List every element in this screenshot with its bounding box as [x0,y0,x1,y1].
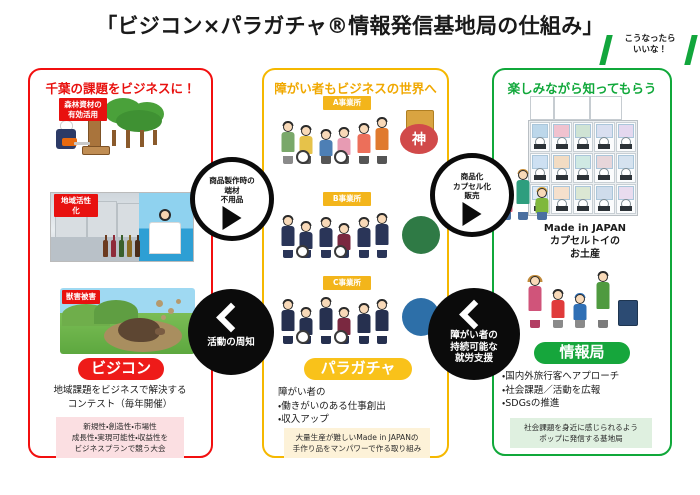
office-a-group-illustration [278,110,398,164]
flow-activity-publicity-arrow-icon [216,303,246,333]
information-station-note: 社会課題を身近に感じられるよう ポップに発信する基地局 [510,418,652,448]
wish-line-2: いいな！ [612,45,688,56]
bizcon-note: 新規性・創造性・市場性 成長性・実現可能性・収益性を ビジネスプランで競う大会 [56,417,184,458]
information-station-description: ・国内外旅行客へアプローチ ・社会課題／活動を広報 ・SDGsの推進 [502,370,672,411]
made-in-japan-caption: Made in JAPAN カプセルトイの お土産 [520,222,650,261]
revitalize-tag: 地域活性化 [54,194,98,217]
forest-tag: 森林資材の 有効活用 [59,98,107,121]
panel-chiba-business: 千葉の課題をビジネスに！ 森林資材の 有効活用 [28,68,213,458]
wish-text: こうなったら いいな！ [612,34,688,56]
office-a-tag: A事業所 [323,96,371,110]
flow-materials-arrow-icon [223,206,242,230]
gacha-top-poster-1 [530,96,554,120]
panel-right-heading: 楽しみながら知ってもらう [494,78,670,97]
flow-materials-text: 商品製作時の 端材 不用品 [195,176,269,205]
office-c-tag: C事業所 [323,276,371,290]
flow-employment-support-text: 障がい者の 持続可能な 就労支援 [428,330,520,365]
paragacha-description: 障がい者の ・働きがいのある仕事創出 ・収入アップ [278,386,448,427]
flow-commercialize-arrow-icon [463,202,482,226]
gacha-top-poster-2 [554,96,590,120]
kami-product-circle: 神 [400,124,438,154]
office-b-group-illustration [278,206,398,258]
panel-mid-heading: 障がい者もビジネスの世界へ [264,78,447,97]
office-b-tag: B事業所 [323,192,371,206]
flow-commercialize: 商品化 カプセル化 販売 [430,153,514,237]
office-c-group-illustration [278,290,398,344]
badge-product [402,216,440,254]
flow-activity-publicity-text: 活動の周知 [188,337,274,349]
flow-employment-support: 障がい者の 持続可能な 就労支援 [428,288,520,380]
infographic-canvas: 「ビジコン×パラガチャ®情報発信基地局の仕組み」 こうなったら いいな！ 千葉の… [0,0,700,495]
wish-callout: こうなったら いいな！ [600,33,698,69]
flow-commercialize-text: 商品化 カプセル化 販売 [435,172,509,201]
traveler-family-illustration [522,268,642,328]
wish-slash-left-icon [599,35,612,65]
flow-employment-support-arrow-icon [459,300,489,330]
panel-left-heading: 千葉の課題をビジネスに！ [30,78,211,97]
gacha-top-poster-3 [590,96,622,120]
panel-information-station: 楽しみながら知ってもらう Made in JAPAN [492,68,672,456]
flow-materials: 商品製作時の 端材 不用品 [190,157,274,241]
information-station-pill: 情報局 [534,342,630,364]
panel-paragacha: 障がい者もビジネスの世界へ A事業所 神 B事業所 [262,68,449,458]
paragacha-note: 大量生産が難しいMade in JAPANの 手作り品をマンパワーで作る取り組み [284,428,430,458]
wish-line-1: こうなったら [612,34,688,45]
paragacha-pill: パラガチャ [304,358,412,380]
page-title: 「ビジコン×パラガチャ®情報発信基地局の仕組み」 [0,10,700,40]
wildlife-damage-tag: 獣害被害 [62,290,100,304]
bizcon-pill: ビジコン [78,358,164,380]
flow-activity-publicity: 活動の周知 [188,289,274,375]
bizcon-description: 地域課題をビジネスで解決する コンテスト（毎年開催） [36,384,204,411]
